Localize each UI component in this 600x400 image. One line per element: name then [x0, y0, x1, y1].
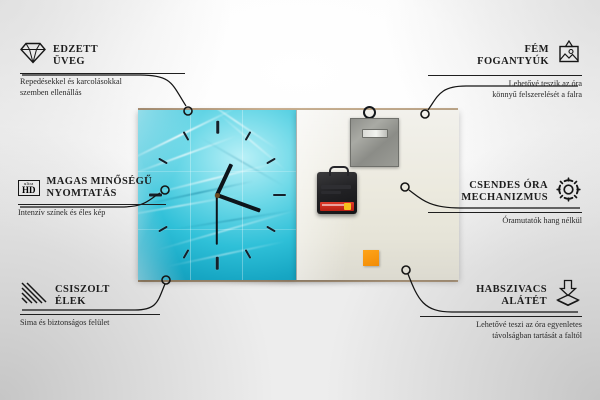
gear-icon — [555, 176, 582, 208]
clock-tick — [216, 257, 219, 270]
callout-desc-line1: Óramutatók hang nélkül — [420, 216, 582, 227]
clock-tick — [245, 131, 252, 141]
callout-divider — [20, 73, 185, 74]
callout-title-line1: FÉM — [477, 44, 549, 56]
clock-hub — [215, 193, 220, 198]
callout-metal-handles: FÉM FOGANTYÚK Lehetővé teszik az óra kön… — [420, 40, 582, 100]
callout-divider — [18, 204, 166, 205]
callout-title-line1: HABSZIVACS — [476, 284, 547, 296]
callout-foam-pad: HABSZIVACS ALÁTÉT Lehetővé teszi az óra … — [414, 279, 582, 341]
down-arrow-pad-icon — [554, 279, 582, 312]
callout-desc-line2: könnyű felszerelését a falra — [420, 90, 582, 101]
second-hand — [216, 195, 218, 245]
metal-hanger-plate — [350, 118, 399, 167]
clock-tick — [273, 194, 286, 197]
product-infographic: EDZETT ÜVEG Repedésekkel és karcolásokka… — [0, 0, 600, 400]
hanging-frame-icon — [556, 40, 582, 71]
callout-title-line2: NYOMTATÁS — [47, 188, 153, 200]
callout-title-line2: FOGANTYÚK — [477, 56, 549, 68]
callout-divider — [420, 316, 582, 317]
callout-title-line1: EDZETT — [53, 44, 98, 56]
callout-desc-line2: szemben ellenállás — [20, 88, 190, 99]
mechanism-bar — [321, 185, 351, 189]
foam-spacer-pad — [363, 250, 379, 266]
callout-divider — [428, 75, 582, 76]
hanger-slot — [362, 129, 388, 138]
clock-tick — [266, 226, 276, 233]
quiet-clock-mechanism — [317, 172, 357, 214]
clock-tick — [158, 226, 168, 233]
ultra-hd-icon: ultra HD — [18, 180, 40, 196]
battery — [320, 202, 354, 211]
callout-desc-line1: Repedésekkel és karcolásokkal — [20, 77, 190, 88]
battery-label-stripe — [322, 204, 344, 206]
clock-tick — [216, 121, 219, 134]
mechanism-handle — [329, 166, 349, 176]
callout-title-line2: ALÁTÉT — [476, 296, 547, 308]
clock-tick — [183, 249, 190, 259]
battery-plus-terminal — [344, 203, 351, 210]
callout-desc-line2: távolságban tartását a faltól — [414, 331, 582, 342]
callout-divider — [428, 212, 582, 213]
callout-title-line1: MAGAS MINŐSÉGŰ — [47, 176, 153, 188]
callout-quiet-mechanism: CSENDES ÓRA MECHANIZMUS Óramutatók hang … — [420, 176, 582, 227]
callout-title-line2: ÜVEG — [53, 56, 98, 68]
callout-title-line1: CSISZOLT — [55, 284, 110, 296]
clock-tick — [158, 158, 168, 165]
callout-desc-line1: Intenzív színek és éles kép — [18, 208, 193, 219]
callout-tempered-glass: EDZETT ÜVEG Repedésekkel és karcolásokka… — [20, 42, 190, 98]
callout-desc-line1: Lehetővé teszik az óra — [420, 79, 582, 90]
clock-tick — [245, 249, 252, 259]
hour-hand — [215, 163, 233, 196]
diamond-icon — [20, 42, 46, 69]
callout-desc-line1: Sima és biztonságos felület — [20, 318, 190, 329]
callout-title-line1: CSENDES ÓRA — [461, 180, 548, 192]
clock-tick — [183, 131, 190, 141]
callout-high-quality-print: ultra HD MAGAS MINŐSÉGŰ NYOMTATÁS Intenz… — [18, 176, 193, 218]
callout-divider — [20, 314, 160, 315]
callout-title-line2: ÉLEK — [55, 296, 110, 308]
beveled-edge-icon — [20, 281, 48, 310]
mechanism-bar-secondary — [321, 191, 341, 194]
minute-hand — [216, 193, 261, 212]
ultra-hd-icon-main-text: HD — [22, 186, 36, 195]
callout-desc-line1: Lehetővé teszi az óra egyenletes — [414, 320, 582, 331]
clock-tick — [266, 158, 276, 165]
callout-title-line2: MECHANIZMUS — [461, 192, 548, 204]
callout-polished-edges: CSISZOLT ÉLEK Sima és biztonságos felüle… — [20, 281, 190, 329]
